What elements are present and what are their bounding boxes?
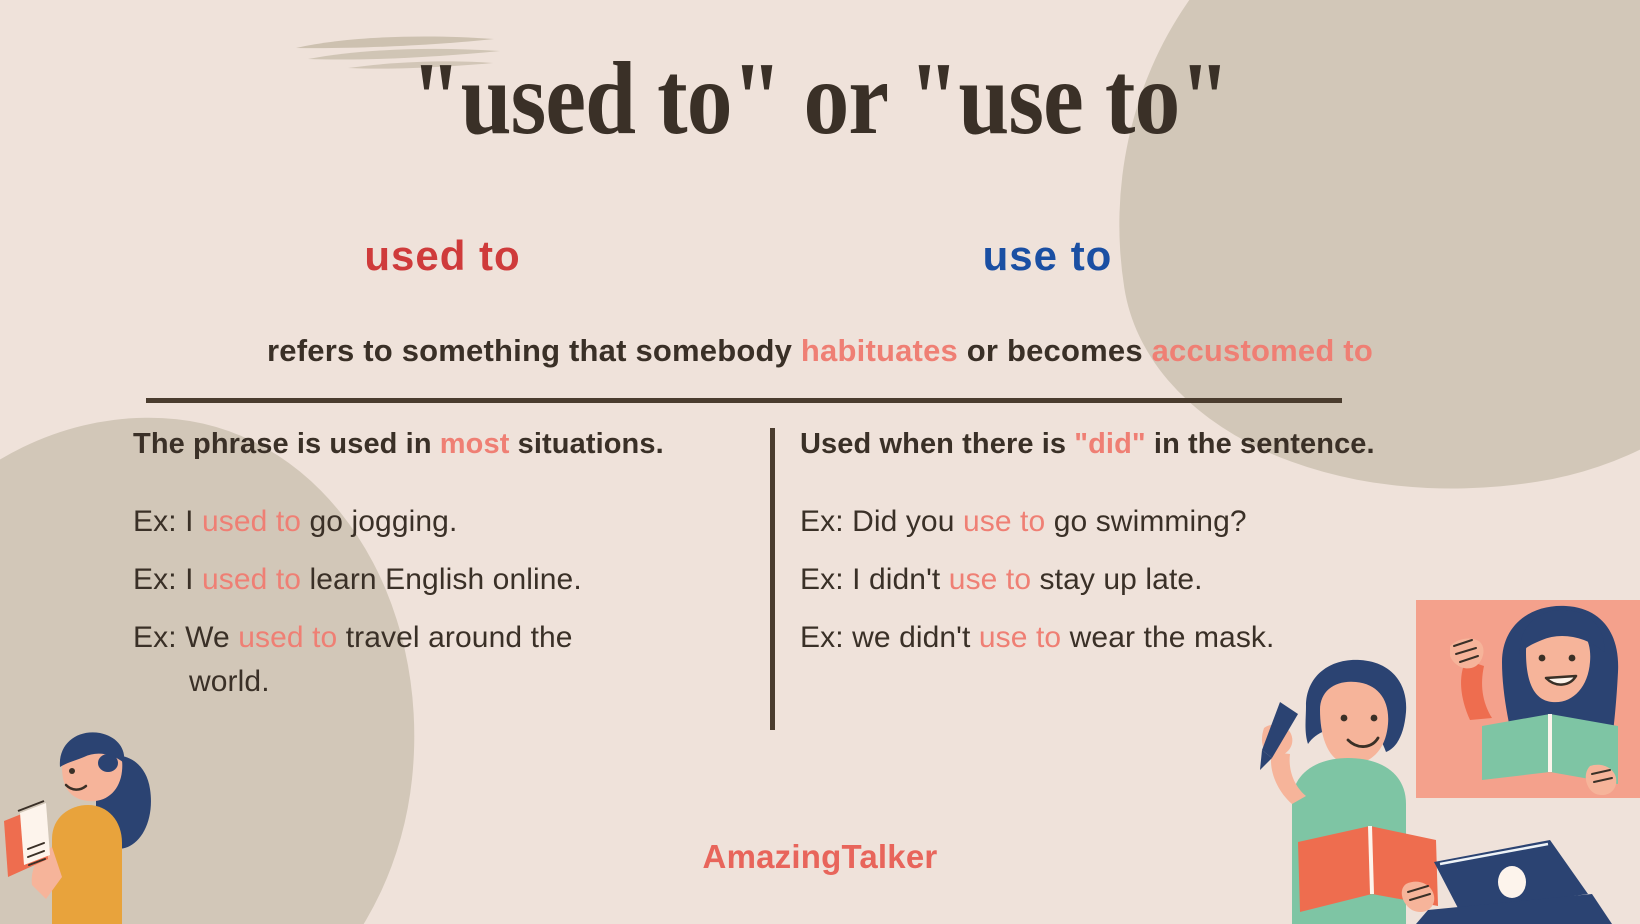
example-suffix: learn English online. <box>301 563 582 596</box>
example-phrase: used to <box>238 621 337 654</box>
infographic-canvas: "used to" or "use to" used to use to ref… <box>0 0 1640 924</box>
right-statement-highlight: "did" <box>1074 428 1146 460</box>
horizontal-divider <box>146 398 1342 403</box>
example-phrase: used to <box>202 563 301 596</box>
example-suffix: stay up late. <box>1031 563 1203 596</box>
example-prefix: Ex: I <box>133 563 202 596</box>
example-phrase: use to <box>979 621 1061 654</box>
example-prefix: Ex: We <box>133 621 238 654</box>
example-phrase: used to <box>202 505 301 538</box>
left-statement-part-2: situations. <box>509 428 663 460</box>
online-lesson-boy-and-tutor-illustration <box>1220 594 1640 924</box>
heading-use-to: use to <box>745 232 1350 280</box>
example-phrase: use to <box>963 505 1045 538</box>
right-statement-part-1: Used when there is <box>800 428 1074 460</box>
example-suffix: travel around the <box>337 621 572 654</box>
page-title: "used to" or "use to" <box>98 44 1541 154</box>
list-item: Ex: Did you use to go swimming? <box>800 507 1420 537</box>
list-item: Ex: I didn't use to stay up late. <box>800 565 1420 595</box>
example-suffix: go jogging. <box>301 505 457 538</box>
example-wrapped-line: world. <box>133 667 753 697</box>
example-phrase: use to <box>949 563 1031 596</box>
example-suffix: go swimming? <box>1045 505 1246 538</box>
example-prefix: Ex: I <box>133 505 202 538</box>
shared-definition: refers to something that somebody habitu… <box>0 333 1640 369</box>
example-prefix: Ex: Did you <box>800 505 963 538</box>
column-used-to: The phrase is used in most situations. E… <box>133 428 753 725</box>
left-examples: Ex: I used to go jogging. Ex: I used to … <box>133 507 753 697</box>
heading-used-to: used to <box>140 232 745 280</box>
left-statement: The phrase is used in most situations. <box>133 428 753 461</box>
definition-highlight-habituates: habituates <box>801 333 958 368</box>
example-prefix: Ex: we didn't <box>800 621 979 654</box>
column-headings: used to use to <box>140 232 1350 280</box>
list-item: Ex: I used to learn English online. <box>133 565 753 595</box>
list-item: Ex: I used to go jogging. <box>133 507 753 537</box>
definition-highlight-accustomed-to: accustomed to <box>1152 333 1373 368</box>
left-statement-part-1: The phrase is used in <box>133 428 440 460</box>
girl-reading-book-illustration <box>0 709 210 924</box>
left-statement-highlight: most <box>440 428 510 460</box>
definition-part-2: or becomes <box>958 333 1152 368</box>
right-statement-part-2: in the sentence. <box>1146 428 1375 460</box>
list-item: Ex: We used to travel around the world. <box>133 623 753 697</box>
definition-part-1: refers to something that somebody <box>267 333 801 368</box>
example-prefix: Ex: I didn't <box>800 563 949 596</box>
right-statement: Used when there is "did" in the sentence… <box>800 428 1420 461</box>
